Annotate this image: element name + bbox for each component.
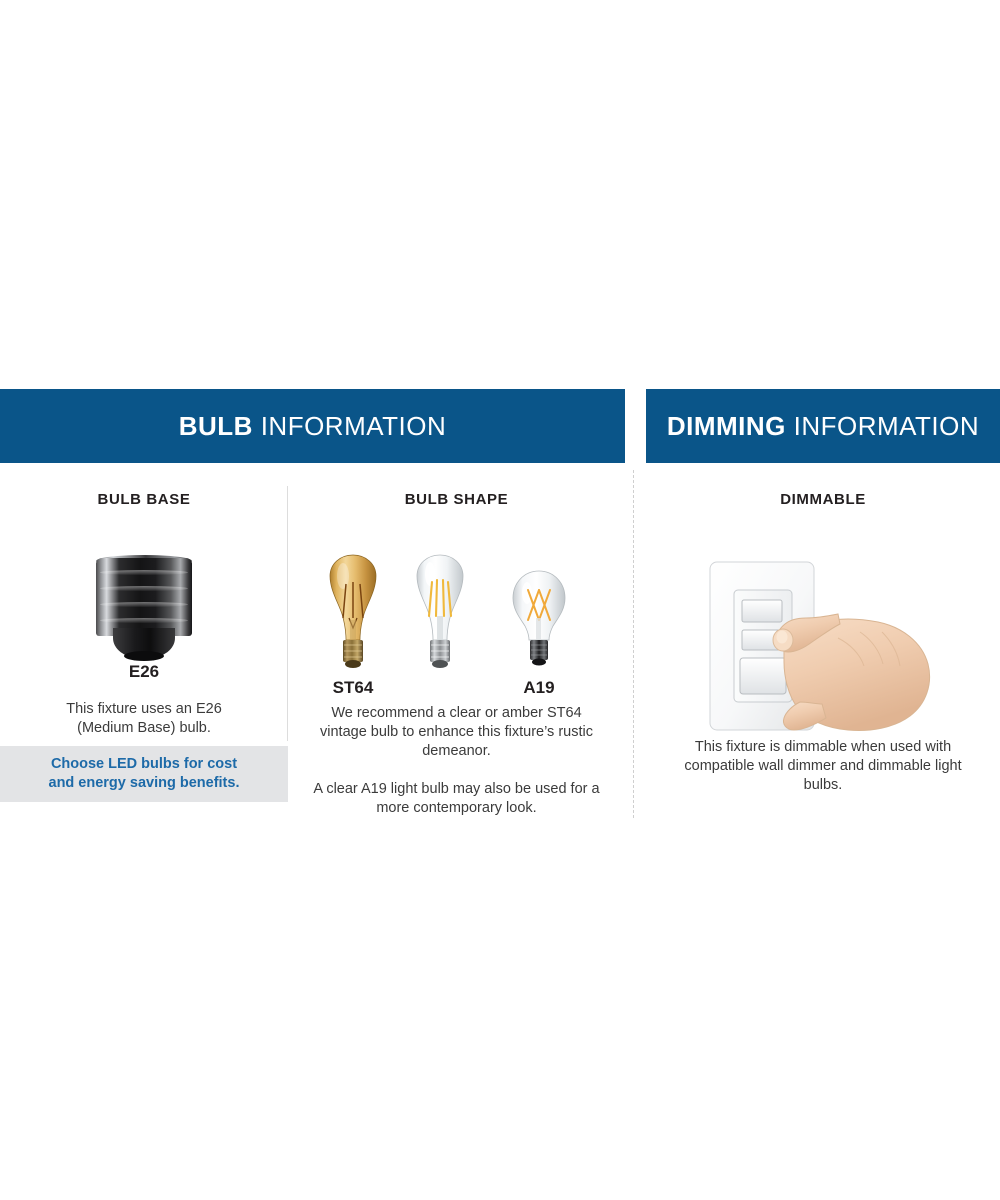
socket-thread-ridge: [100, 586, 188, 591]
bulb-shape-section-label: BULB SHAPE: [288, 463, 625, 508]
e26-socket-icon: [90, 558, 198, 662]
dimmable-paragraph: This fixture is dimmable when used with …: [646, 738, 1000, 795]
socket-threaded-body: [96, 558, 192, 636]
dimmable-figure: [646, 508, 1000, 740]
bulb-banner-strong-word: BULB: [179, 411, 253, 441]
bulb-base-section-label: BULB BASE: [0, 463, 288, 508]
bulb-shape-paragraph-1: We recommend a clear or amber ST64 vinta…: [288, 704, 625, 761]
socket-thread-ridge: [100, 602, 188, 607]
led-callout-line-1: Choose LED bulbs for cost: [51, 756, 237, 772]
glass-highlight: [337, 563, 349, 589]
dimmer-rocker-switch: [740, 658, 786, 694]
socket-thread-ridge: [100, 618, 188, 623]
led-callout-box: Choose LED bulbs for cost and energy sav…: [0, 746, 288, 802]
bulb-information-banner-title: BULB INFORMATION: [179, 411, 447, 442]
bulb-base-column: BULB BASE E26 This fixture uses an E26 (…: [0, 463, 288, 738]
st64-amber-bulb-icon: [316, 552, 390, 674]
bulb-base-tip: [432, 660, 448, 668]
bulb-base-figure: [0, 508, 288, 668]
led-callout-text: Choose LED bulbs for cost and energy sav…: [49, 755, 240, 793]
wall-dimmer-switch-with-hand-icon: [688, 552, 958, 742]
dimmable-column: DIMMABLE: [646, 463, 1000, 795]
bulb-base-tip: [345, 660, 361, 668]
st64-item-label: ST64: [316, 678, 390, 698]
filament-post: [437, 616, 443, 640]
bulb-shape-figure: ST64 A19: [288, 508, 625, 680]
bulb-base-tip: [532, 659, 546, 666]
st64-clear-bulb-icon: [403, 552, 477, 674]
bulb-base-description-line-1: This fixture uses an E26: [66, 701, 222, 717]
bulb-banner-rest-word: INFORMATION: [253, 411, 446, 441]
dimmable-section-label: DIMMABLE: [646, 463, 1000, 508]
bulb-shape-column: BULB SHAPE: [288, 463, 625, 818]
dimming-information-banner-title: DIMMING INFORMATION: [667, 411, 979, 442]
dimming-banner-rest-word: INFORMATION: [786, 411, 979, 441]
glass-highlight: [522, 582, 532, 604]
socket-tip: [113, 628, 175, 658]
fingernail: [777, 631, 788, 644]
dimmer-slider-paddle-top: [742, 600, 782, 622]
hand-pointing: [773, 614, 930, 730]
bulb-base-description-line-2: (Medium Base) bulb.: [77, 720, 211, 736]
bulb-shape-paragraph-2: A clear A19 light bulb may also be used …: [288, 780, 625, 818]
bulb-shape-images: [288, 550, 625, 674]
bulb-information-banner: BULB INFORMATION: [0, 389, 625, 463]
glass-highlight: [425, 562, 435, 586]
bulb-base-description: This fixture uses an E26 (Medium Base) b…: [0, 700, 288, 738]
panel-divider: [633, 470, 634, 818]
dimming-information-banner: DIMMING INFORMATION: [646, 389, 1000, 463]
socket-thread-ridge: [100, 570, 188, 575]
a19-clear-bulb-icon: [506, 568, 572, 674]
led-callout-line-2: and energy saving benefits.: [49, 775, 240, 791]
filament-post: [350, 620, 356, 640]
filament-post: [536, 618, 541, 640]
dimming-information-panel: DIMMABLE: [646, 463, 1000, 823]
dimming-banner-strong-word: DIMMING: [667, 411, 786, 441]
a19-item-label: A19: [506, 678, 572, 698]
